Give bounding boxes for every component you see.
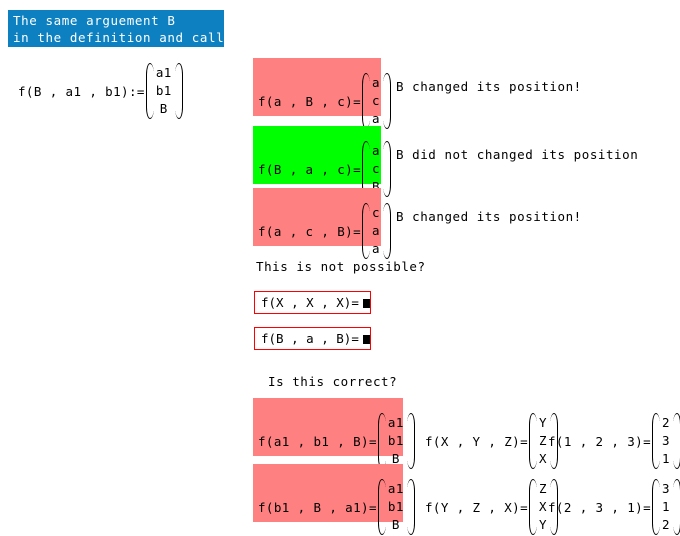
header-banner: The same arguement B in the definition a… <box>8 10 224 47</box>
vector-cell: 3 <box>662 480 670 498</box>
vector-cell: 1 <box>662 498 670 516</box>
vector-cell: a <box>372 74 380 92</box>
vector-cell: a <box>372 142 380 160</box>
vector-bracket-right <box>673 412 680 470</box>
call-lhs: f(B , a , c) <box>258 162 353 177</box>
call-operator: = <box>369 434 377 449</box>
vector-cell: 2 <box>662 414 670 432</box>
definition-lhs: f(B , a1 , b1) <box>18 84 129 99</box>
vector-cell: a1 <box>388 414 404 432</box>
call-operator: = <box>369 500 377 515</box>
call-operator: = <box>353 224 361 239</box>
annotation-call-1: B changed its position! <box>396 79 582 94</box>
bottom-middle-expression-2[interactable]: f(Y , Z , X) = Z X Y <box>425 478 557 536</box>
error-box-2[interactable]: f(B , a , B) = <box>254 327 371 350</box>
call-lhs: f(X , Y , Z) <box>425 434 520 449</box>
vector-cell: a1 <box>156 64 172 82</box>
vector-bracket-left <box>652 478 659 536</box>
vector-bracket-right <box>673 478 680 536</box>
definition-operator: := <box>129 84 145 99</box>
call-lhs: f(2 , 3 , 1) <box>548 500 643 515</box>
header-line-2: in the definition and call <box>13 29 220 46</box>
call-lhs: f(a , c , B) <box>258 224 353 239</box>
vector-cell: c <box>372 160 380 178</box>
vector-bracket-right <box>407 412 414 470</box>
vector-cell: Z <box>539 480 547 498</box>
vector-bracket-right <box>407 478 414 536</box>
vector-cell: b1 <box>388 498 404 516</box>
vector-cell: B <box>160 100 168 118</box>
vector-cell: b1 <box>156 82 172 100</box>
call-lhs: f(a , B , c) <box>258 94 353 109</box>
vector-cell: X <box>539 498 547 516</box>
error-lhs: f(B , a , B) <box>261 331 351 346</box>
vector-cell: a1 <box>388 480 404 498</box>
vector-bracket-left <box>146 62 153 120</box>
call-operator: = <box>520 434 528 449</box>
vector-cell: 3 <box>662 432 670 450</box>
error-box-1[interactable]: f(X , X , X) = <box>254 291 371 314</box>
definition-vector: a1 b1 B <box>146 62 182 120</box>
call-operator: = <box>643 434 651 449</box>
call-result-vector: a c a <box>362 72 390 130</box>
placeholder-square-icon[interactable] <box>363 299 370 308</box>
call-operator: = <box>643 500 651 515</box>
bottom-left-expression-2[interactable]: f(b1 , B , a1) = a1 b1 B <box>258 478 414 536</box>
vector-cell: Z <box>539 432 547 450</box>
vector-cell: Y <box>539 516 547 534</box>
call-result-vector: a1 b1 B <box>378 412 414 470</box>
error-lhs: f(X , X , X) <box>261 295 351 310</box>
vector-bracket-left <box>378 478 385 536</box>
vector-cell: c <box>372 92 380 110</box>
call-result-vector: 2 3 1 <box>652 412 680 470</box>
bottom-middle-expression-1[interactable]: f(X , Y , Z) = Y Z X <box>425 412 557 470</box>
vector-bracket-left <box>529 478 536 536</box>
vector-bracket-left <box>529 412 536 470</box>
header-line-1: The same arguement B <box>13 12 220 29</box>
vector-cell: 1 <box>662 450 670 468</box>
call-operator: = <box>353 162 361 177</box>
call-result-vector: 3 1 2 <box>652 478 680 536</box>
vector-bracket-left <box>378 412 385 470</box>
call-operator: = <box>353 94 361 109</box>
call-lhs: f(1 , 2 , 3) <box>548 434 643 449</box>
call-expression-3[interactable]: f(a , c , B) = c a a <box>258 202 390 260</box>
vector-bracket-left <box>362 202 369 260</box>
vector-cell: 2 <box>662 516 670 534</box>
vector-bracket-right <box>175 62 182 120</box>
vector-cell: a <box>372 222 380 240</box>
vector-bracket-left <box>652 412 659 470</box>
vector-bracket-right <box>383 202 390 260</box>
note-not-possible: This is not possible? <box>256 259 426 274</box>
vector-cell: a <box>372 240 380 258</box>
vector-bracket-right <box>383 72 390 130</box>
call-expression-1[interactable]: f(a , B , c) = a c a <box>258 72 390 130</box>
call-lhs: f(b1 , B , a1) <box>258 500 369 515</box>
vector-cell: c <box>372 204 380 222</box>
error-operator: = <box>351 331 359 346</box>
bottom-left-expression-1[interactable]: f(a1 , b1 , B) = a1 b1 B <box>258 412 414 470</box>
call-lhs: f(a1 , b1 , B) <box>258 434 369 449</box>
vector-cell: X <box>539 450 547 468</box>
annotation-call-2: B did not changed its position <box>396 147 638 162</box>
vector-cell: Y <box>539 414 547 432</box>
function-definition[interactable]: f(B , a1 , b1) := a1 b1 B <box>18 62 182 120</box>
vector-cell: B <box>392 516 400 534</box>
note-is-correct: Is this correct? <box>268 374 397 389</box>
call-result-vector: a1 b1 B <box>378 478 414 536</box>
error-operator: = <box>351 295 359 310</box>
call-result-vector: c a a <box>362 202 390 260</box>
bottom-right-expression-1[interactable]: f(1 , 2 , 3) = 2 3 1 <box>548 412 680 470</box>
vector-bracket-right <box>383 140 390 198</box>
placeholder-square-icon[interactable] <box>363 335 370 344</box>
call-lhs: f(Y , Z , X) <box>425 500 520 515</box>
annotation-call-3: B changed its position! <box>396 209 582 224</box>
call-operator: = <box>520 500 528 515</box>
vector-bracket-left <box>362 72 369 130</box>
bottom-right-expression-2[interactable]: f(2 , 3 , 1) = 3 1 2 <box>548 478 680 536</box>
vector-cell: b1 <box>388 432 404 450</box>
